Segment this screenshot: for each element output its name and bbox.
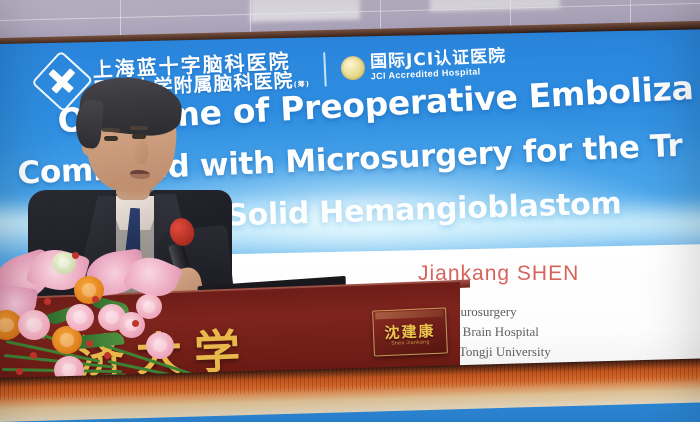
speaker-eye-left <box>104 136 118 141</box>
pink-rose <box>18 310 50 340</box>
name-placard: 沈建康 Shen Jiankang <box>372 307 448 356</box>
pink-rose <box>146 332 174 359</box>
speaker-chin <box>116 174 156 196</box>
jci-globe-icon <box>341 56 366 81</box>
pink-rose <box>136 294 162 319</box>
header-divider <box>324 52 328 86</box>
orange-rose <box>74 276 104 304</box>
speaker-eyebrow-right <box>130 126 148 130</box>
speaker-eye-right <box>132 134 146 139</box>
photo-scene: 上海蓝十字脑科医院 同济大学附属脑科医院(筹) 国际JCI认证医院 JCI Ac… <box>0 0 700 422</box>
jci-accreditation-block: 国际JCI认证医院 JCI Accredited Hospital <box>341 48 507 82</box>
speaker-nose <box>134 140 148 164</box>
placard-header-strip <box>375 310 443 320</box>
pink-rose <box>66 304 94 331</box>
hospital-name-suffix: (筹) <box>293 80 310 89</box>
speaker-eyebrow-left <box>102 128 120 133</box>
